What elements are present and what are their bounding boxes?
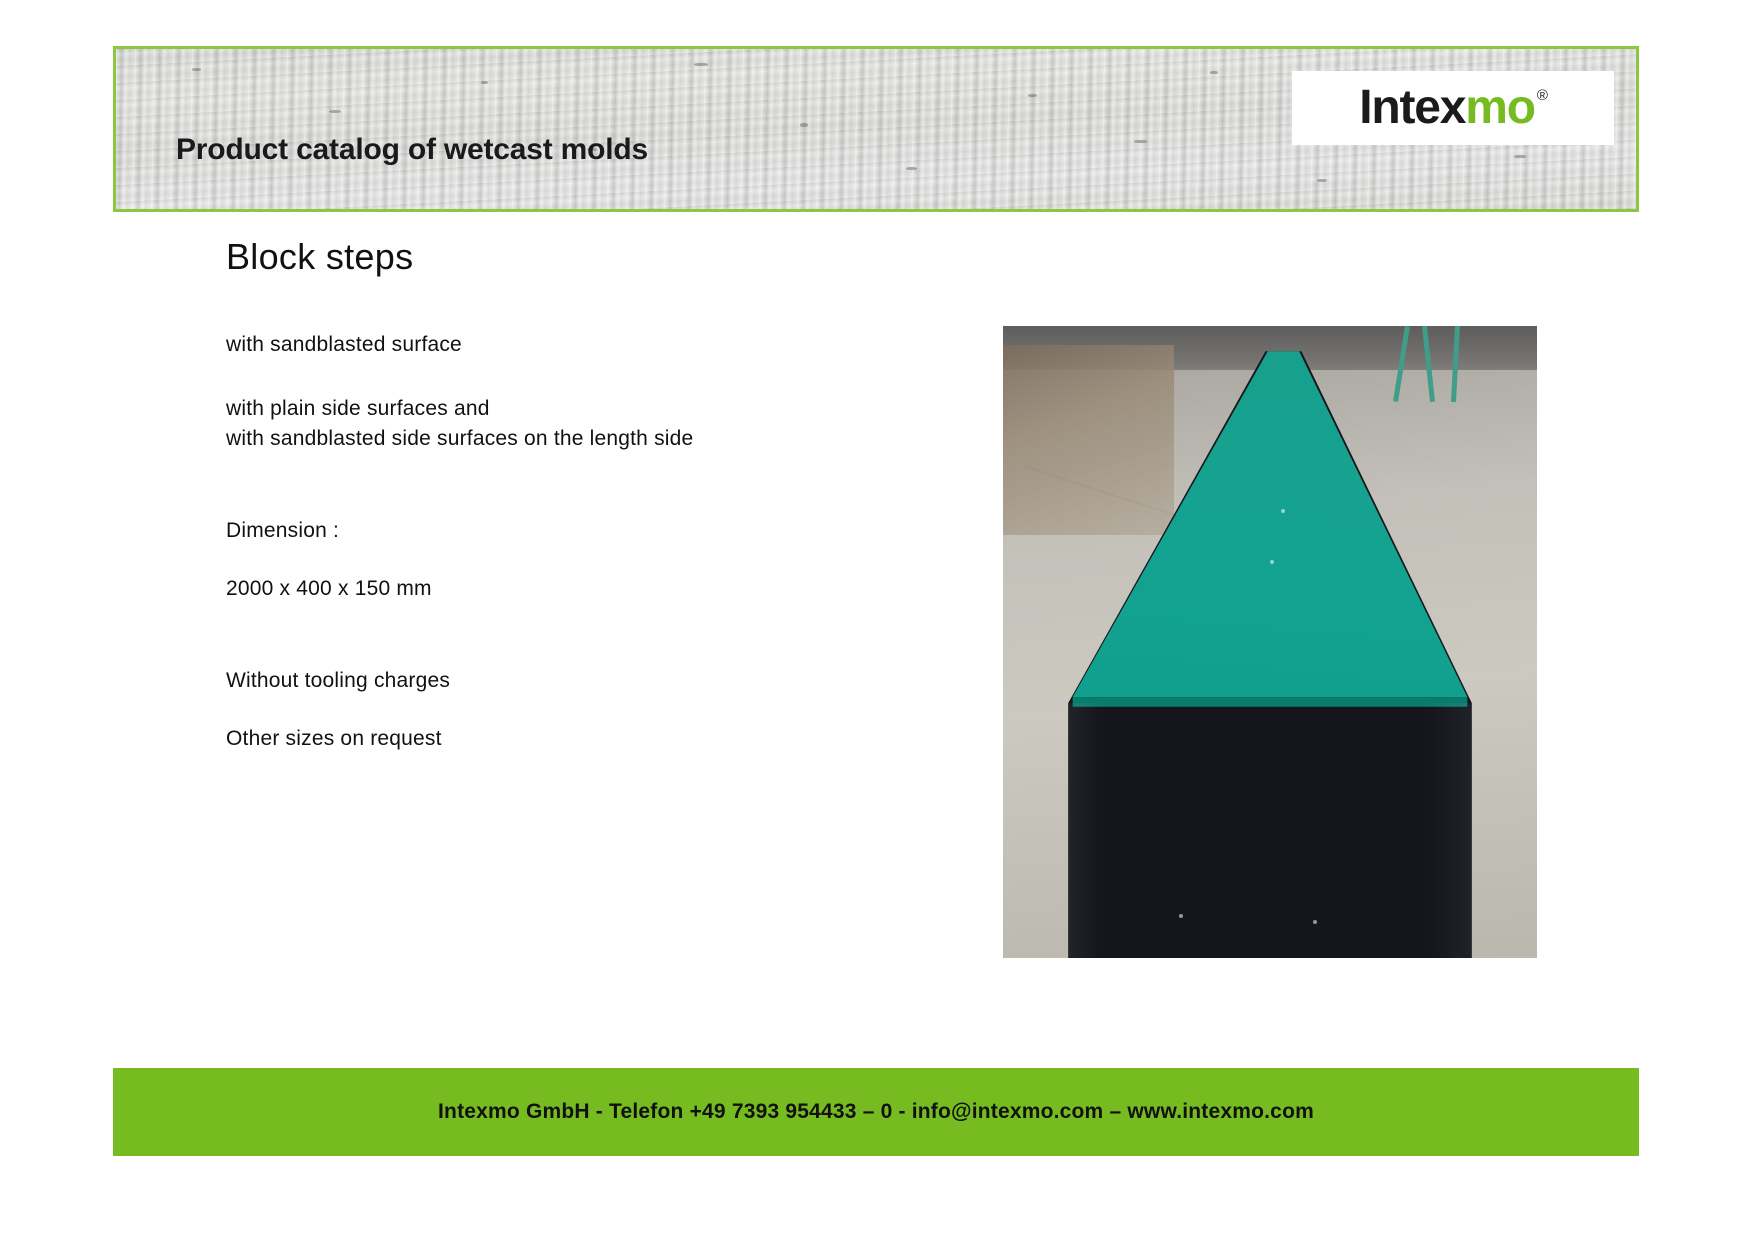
photo-highlight-dot [1281,509,1285,513]
note-other-sizes: Other sizes on request [226,724,866,754]
registered-trademark-icon: ® [1537,88,1547,103]
dimension-label: Dimension : [226,516,866,546]
logo-dark-text: Intex [1359,84,1465,132]
spec-plain-side: with plain side surfaces and [226,394,866,424]
dimension-value: 2000 x 400 x 150 mm [226,574,866,604]
footer-contact-text: Intexmo GmbH - Telefon +49 7393 954433 –… [438,1100,1314,1124]
note-tooling-charges: Without tooling charges [226,666,866,696]
photo-highlight-dot [1179,914,1183,918]
spec-surface: with sandblasted surface [226,330,866,360]
product-name: Block steps [226,236,866,278]
product-info-panel: Block steps with sandblasted surface wit… [226,236,866,754]
product-photo [1003,326,1537,958]
page-footer: Intexmo GmbH - Telefon +49 7393 954433 –… [113,1068,1639,1156]
spec-sandblasted-side: with sandblasted side surfaces on the le… [226,424,866,454]
photo-rack-legs [1366,326,1516,402]
intexmo-logo: Intexmo® [1292,71,1614,145]
page-header: Product catalog of wetcast molds Intexmo… [113,46,1639,212]
photo-highlight-dot [1270,560,1274,564]
photo-side-slab [1003,345,1174,535]
logo-green-text: mo [1465,84,1535,132]
photo-highlight-dot [1313,920,1317,924]
page-title: Product catalog of wetcast molds [176,133,648,167]
